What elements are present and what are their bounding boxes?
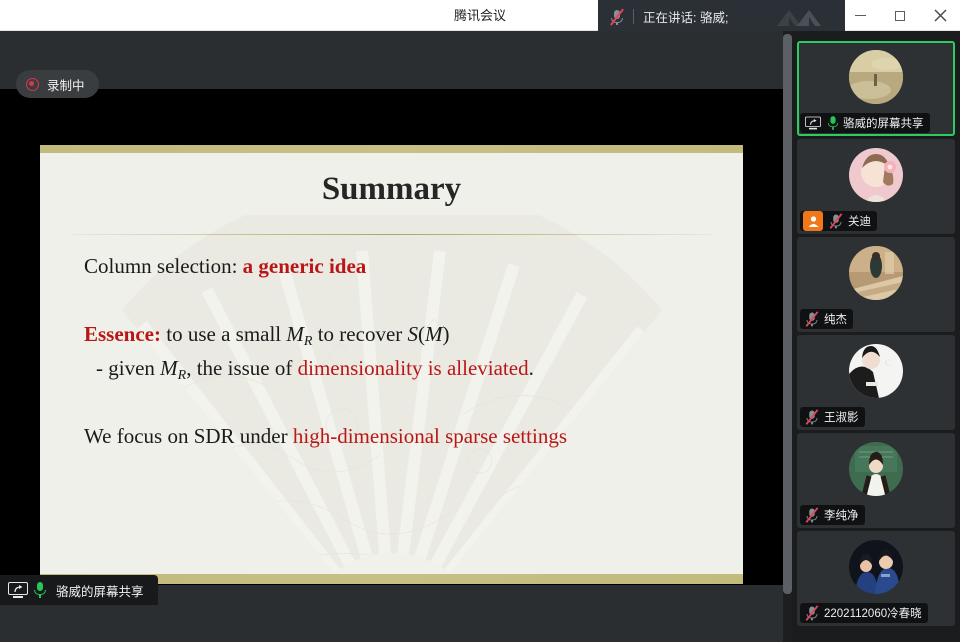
slide-title: Summary [40, 171, 743, 208]
line1-prefix: Column selection: [84, 254, 243, 278]
line1-highlight: a generic idea [243, 254, 367, 278]
sidebar-scrollbar-thumb[interactable] [783, 34, 792, 594]
participant-tile[interactable]: 纯杰 [797, 237, 955, 332]
microphone-on-icon [826, 115, 840, 130]
speaking-indicator: 正在讲话: 骆威; [598, 0, 845, 33]
slide-content: Summary Column selection: a generic idea… [40, 145, 743, 584]
line2-paren-close: ) [443, 322, 450, 346]
line2-s: S [408, 322, 419, 346]
close-button[interactable] [920, 0, 960, 31]
slide-line-1: Column selection: a generic idea [84, 253, 366, 279]
participant-tile[interactable]: C 王淑影 [797, 335, 955, 430]
tencent-meeting-window: 腾讯会议 正在讲话: 骆威; [0, 0, 960, 642]
screen-share-status-bar: 骆威的屏幕共享 [0, 575, 158, 605]
microphone-muted-icon [828, 213, 845, 230]
participant-tile[interactable]: 关迪 [797, 139, 955, 234]
line3-m: M [160, 356, 178, 380]
title-divider [72, 234, 711, 235]
participant-name-chip: 2202112060冷春晓 [800, 603, 928, 623]
tencent-meeting-logo-icon [775, 4, 831, 30]
line3-subscript: R [178, 368, 187, 383]
window-controls [840, 0, 960, 31]
participant-tile[interactable]: 李纯净 [797, 433, 955, 528]
recording-badge: 录制中 [16, 70, 99, 98]
line2-m2: M [425, 322, 443, 346]
avatar [849, 540, 903, 594]
line2-paren-open: ( [418, 322, 425, 346]
participant-name: 骆威的屏幕共享 [843, 115, 924, 131]
avatar [849, 50, 903, 104]
participant-name-chip: 关迪 [800, 211, 877, 231]
line3-mid: , the issue of [186, 356, 297, 380]
line2-m: M [286, 322, 304, 346]
microphone-on-icon [32, 581, 48, 599]
minimize-button[interactable] [840, 0, 880, 31]
microphone-muted-icon [804, 507, 821, 524]
slide-line-2: Essence: to use a small MR to recover S(… [84, 321, 450, 351]
title-bar: 腾讯会议 正在讲话: 骆威; [0, 0, 960, 31]
participant-name-chip: 骆威的屏幕共享 [800, 113, 930, 133]
avatar [849, 246, 903, 300]
participant-tile[interactable]: 2202112060冷春晓 [797, 531, 955, 626]
share-label: 骆威的屏幕共享 [56, 581, 144, 600]
line4-prefix: We focus on SDR under [84, 424, 293, 448]
microphone-muted-icon [804, 311, 821, 328]
maximize-button[interactable] [880, 0, 920, 31]
microphone-muted-icon [804, 409, 821, 426]
host-badge-icon [803, 211, 823, 231]
participant-name: 2202112060冷春晓 [824, 605, 922, 621]
slide-line-3: - given MR, the issue of dimensionality … [96, 355, 534, 385]
recording-label: 录制中 [47, 75, 85, 94]
slide-line-4: We focus on SDR under high-dimensional s… [84, 423, 567, 449]
screen-share-icon [805, 117, 821, 130]
close-icon [934, 9, 947, 22]
participant-name: 纯杰 [824, 311, 847, 327]
divider [633, 9, 634, 24]
participant-name-chip: 纯杰 [800, 309, 853, 329]
participant-name: 王淑影 [824, 409, 859, 425]
line4-highlight: high-dimensional sparse settings [293, 424, 567, 448]
participant-name-chip: 李纯净 [800, 505, 865, 525]
presentation-slide: Summary Column selection: a generic idea… [40, 145, 743, 584]
avatar [849, 148, 903, 202]
svg-text:C: C [885, 358, 891, 368]
line3-prefix: - given [96, 356, 160, 380]
line2-text-a: to use a small [161, 322, 286, 346]
line2-label: Essence: [84, 322, 161, 346]
line2-text-b: to recover [312, 322, 407, 346]
line3-highlight: dimensionality is alleviated [298, 356, 529, 380]
participant-name-chip: 王淑影 [800, 407, 865, 427]
microphone-muted-icon [804, 605, 821, 622]
minimize-icon [855, 15, 866, 17]
line3-period: . [529, 356, 534, 380]
participant-name: 关迪 [848, 213, 871, 229]
participant-tile[interactable]: 骆威的屏幕共享 [797, 41, 955, 136]
microphone-muted-icon [608, 8, 626, 26]
maximize-icon [895, 11, 905, 21]
speaking-text: 正在讲话: 骆威; [643, 7, 728, 26]
avatar [849, 442, 903, 496]
screen-share-icon [8, 582, 28, 598]
avatar: C [849, 344, 903, 398]
record-dot-icon [26, 78, 39, 91]
participant-name: 李纯净 [824, 507, 859, 523]
participant-sidebar: 骆威的屏幕共享 [792, 31, 960, 642]
shared-screen-stage: 录制中 [0, 31, 783, 605]
